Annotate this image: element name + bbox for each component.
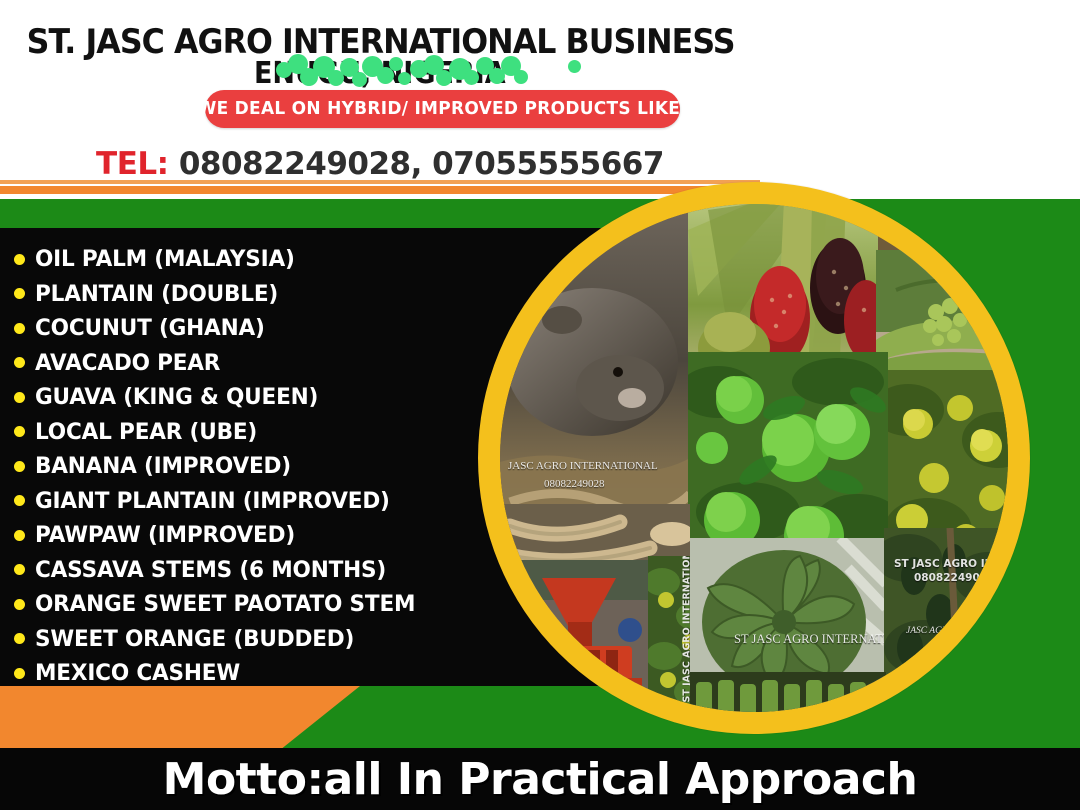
bullet-icon bbox=[14, 633, 25, 644]
product-label: CASSAVA STEMS (6 MONTHS) bbox=[35, 557, 386, 583]
product-label: AVACADO PEAR bbox=[35, 350, 220, 376]
list-item: GIANT PLANTAIN (IMPROVED) bbox=[14, 484, 534, 519]
bullet-icon bbox=[14, 392, 25, 403]
banner-badge: WE DEAL ON HYBRID/ IMPROVED PRODUCTS LIK… bbox=[205, 90, 680, 128]
collage-watermark: 08082249028 bbox=[544, 478, 605, 490]
product-label: LOCAL PEAR (UBE) bbox=[35, 419, 257, 445]
collage-circle: JASC AGRO INTERNATIONAL 08082249028 bbox=[500, 204, 1008, 712]
product-label: OIL PALM (MALAYSIA) bbox=[35, 246, 295, 272]
list-item: ORANGE SWEET PAOTATO STEM bbox=[14, 587, 534, 622]
motto-bar: Motto:all In Practical Approach bbox=[0, 748, 1080, 810]
collage-watermark: ST JASC AGRO INTERNATI bbox=[894, 558, 1008, 570]
bullet-icon bbox=[14, 530, 25, 541]
tel-numbers: 08082249028, 07055555667 bbox=[179, 146, 664, 182]
banner-label: WE DEAL ON HYBRID/ IMPROVED PRODUCTS LIK… bbox=[198, 99, 688, 119]
product-list: OIL PALM (MALAYSIA) PLANTAIN (DOUBLE) CO… bbox=[14, 242, 534, 691]
list-item: COCUNUT (GHANA) bbox=[14, 311, 534, 346]
product-label: MEXICO CASHEW bbox=[35, 660, 240, 686]
bullet-icon bbox=[14, 357, 25, 368]
product-label: COCUNUT (GHANA) bbox=[35, 315, 265, 341]
green-blob-icon bbox=[389, 57, 403, 71]
collage-watermark: JASC AGRO I bbox=[906, 626, 960, 636]
list-item: SWEET ORANGE (BUDDED) bbox=[14, 622, 534, 657]
collage-photo-machine bbox=[512, 560, 652, 710]
telephone-line: TEL: 08082249028, 07055555667 bbox=[0, 146, 760, 182]
bullet-icon bbox=[14, 288, 25, 299]
product-label: GUAVA (KING & QUEEN) bbox=[35, 384, 318, 410]
bullet-icon bbox=[14, 254, 25, 265]
collage-photo-avocado: ST JASC AGRO INTERNATI 08082249028 JASC … bbox=[884, 528, 1008, 692]
list-item: PLANTAIN (DOUBLE) bbox=[14, 277, 534, 312]
green-blob-icon bbox=[514, 70, 528, 84]
collage-ring: JASC AGRO INTERNATIONAL 08082249028 bbox=[478, 182, 1030, 734]
list-item: LOCAL PEAR (UBE) bbox=[14, 415, 534, 450]
bullet-icon bbox=[14, 599, 25, 610]
product-label: SWEET ORANGE (BUDDED) bbox=[35, 626, 354, 652]
list-item: BANANA (IMPROVED) bbox=[14, 449, 534, 484]
green-blob-icon bbox=[398, 72, 411, 85]
bullet-icon bbox=[14, 426, 25, 437]
list-item: PAWPAW (IMPROVED) bbox=[14, 518, 534, 553]
list-item: MEXICO CASHEW bbox=[14, 656, 534, 691]
bullet-icon bbox=[14, 323, 25, 334]
list-item: OIL PALM (MALAYSIA) bbox=[14, 242, 534, 277]
bullet-icon bbox=[14, 668, 25, 679]
bullet-icon bbox=[14, 495, 25, 506]
product-label: PAWPAW (IMPROVED) bbox=[35, 522, 295, 548]
collage-watermark: ST JASC AGRO INTERNATIONAL bbox=[734, 632, 886, 647]
collage-watermark: 08082249028 bbox=[914, 572, 994, 584]
bullet-icon bbox=[14, 564, 25, 575]
product-label: PLANTAIN (DOUBLE) bbox=[35, 281, 278, 307]
collage-watermark: JASC AGRO INTERNATIONAL bbox=[508, 460, 658, 472]
green-blob-icon bbox=[568, 60, 581, 73]
motto-text: Motto:all In Practical Approach bbox=[163, 754, 918, 805]
product-label: BANANA (IMPROVED) bbox=[35, 453, 291, 479]
orange-stripe bbox=[0, 186, 780, 194]
green-blob-icon bbox=[464, 70, 479, 85]
list-item: CASSAVA STEMS (6 MONTHS) bbox=[14, 553, 534, 588]
product-label: ORANGE SWEET PAOTATO STEM bbox=[35, 591, 415, 617]
product-label: GIANT PLANTAIN (IMPROVED) bbox=[35, 488, 390, 514]
list-item: GUAVA (KING & QUEEN) bbox=[14, 380, 534, 415]
list-item: AVACADO PEAR bbox=[14, 346, 534, 381]
poster-root: ST. JASC AGRO INTERNATIONAL BUSINESS ENU… bbox=[0, 0, 1080, 810]
bullet-icon bbox=[14, 461, 25, 472]
collage-grid: JASC AGRO INTERNATIONAL 08082249028 bbox=[500, 204, 1008, 712]
tel-label: TEL: bbox=[96, 146, 168, 182]
collage-photo-grasscutter: JASC AGRO INTERNATIONAL 08082249028 bbox=[500, 212, 690, 542]
collage-photo-nursery bbox=[690, 672, 886, 712]
